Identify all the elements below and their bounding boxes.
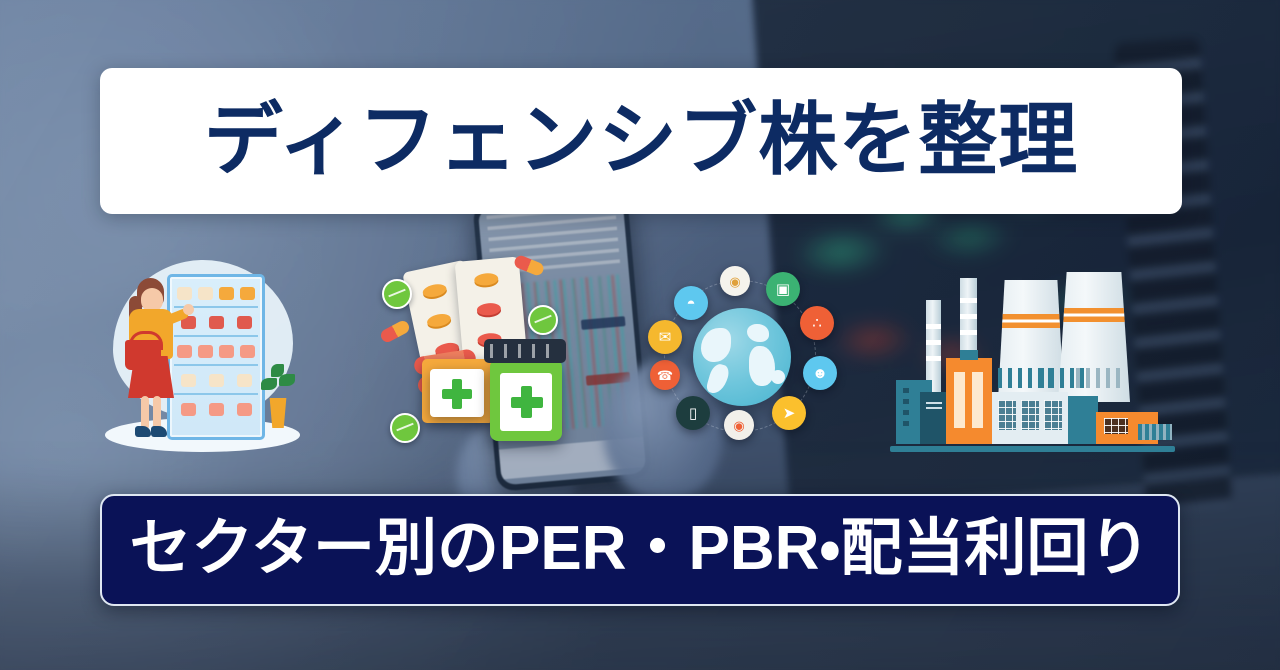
fridge-shelf-3 — [174, 339, 258, 366]
globe-landmass-europe — [747, 324, 769, 342]
woman-leg-right — [153, 396, 161, 430]
tablet-green-right — [528, 305, 558, 335]
woman-hand — [183, 304, 194, 315]
phone-icon[interactable]: ☎ — [650, 360, 680, 390]
subtitle-banner: セクター別のPER・PBR・配当利回り — [100, 494, 1180, 606]
building-dark-vent — [926, 402, 942, 412]
building-teal-windows — [903, 388, 909, 432]
illustration-consumer-staples — [95, 250, 310, 460]
title-banner: ディフェンシブ株を整理 — [100, 68, 1182, 214]
globe-landmass-americas — [701, 328, 731, 362]
medical-cross-small-vertical — [452, 379, 462, 409]
pipe-bank-far — [1076, 368, 1126, 388]
woman-leg-left — [141, 396, 149, 430]
thumbnail-canvas: ◓ ◉ ▣ ∴ ☻ ➤ ◉ ▯ ☎ ✉ — [0, 0, 1280, 670]
woman-shoe-right — [151, 426, 167, 437]
globe-landmass-oceania — [771, 370, 785, 384]
fridge-shelf-4 — [174, 368, 258, 395]
building-dark-left — [920, 392, 948, 444]
fridge-shelf-5 — [174, 397, 258, 422]
tablet-green-bottom — [390, 413, 420, 443]
medicine-bottle-cap — [484, 339, 566, 363]
target-icon[interactable]: ◉ — [724, 410, 754, 440]
capsule-left — [379, 319, 412, 345]
illustration-telecommunications: ◓ ◉ ▣ ∴ ☻ ➤ ◉ ▯ ☎ ✉ — [648, 268, 833, 448]
building-teal-right — [1068, 396, 1098, 444]
plant-leaf-top — [271, 364, 284, 377]
building-orange-main — [946, 358, 992, 444]
illustration-utilities — [890, 272, 1175, 452]
conveyor-right — [1138, 424, 1172, 440]
illustration-healthcare — [378, 255, 593, 465]
tablet-green-top-left — [382, 279, 412, 309]
chat-icon[interactable]: ▣ — [766, 272, 800, 306]
send-icon[interactable]: ➤ — [772, 396, 806, 430]
users-icon[interactable]: ☻ — [803, 356, 837, 390]
woman-shoe-left — [135, 426, 151, 437]
share-icon[interactable]: ∴ — [800, 306, 834, 340]
factory-ground-line — [890, 446, 1175, 452]
globe — [693, 308, 791, 406]
wifi-icon[interactable]: ◓ — [674, 286, 708, 320]
email-icon[interactable]: ✉ — [648, 320, 682, 354]
building-orange-roof-unit — [960, 350, 978, 360]
shopper-woman — [115, 278, 185, 438]
search-icon[interactable]: ◉ — [720, 266, 750, 296]
plant-leaf-right — [279, 374, 295, 386]
mobile-icon[interactable]: ▯ — [676, 396, 710, 430]
page-subtitle: セクター別のPER・PBR・配当利回り — [130, 518, 1151, 580]
page-title: ディフェンシブ株を整理 — [204, 100, 1078, 179]
globe-landmass-south-america — [705, 362, 731, 396]
building-light-center — [992, 392, 1068, 444]
medical-cross-large-vertical — [521, 386, 532, 418]
shopping-basket — [125, 340, 161, 370]
plant-leaf-left — [261, 378, 277, 390]
